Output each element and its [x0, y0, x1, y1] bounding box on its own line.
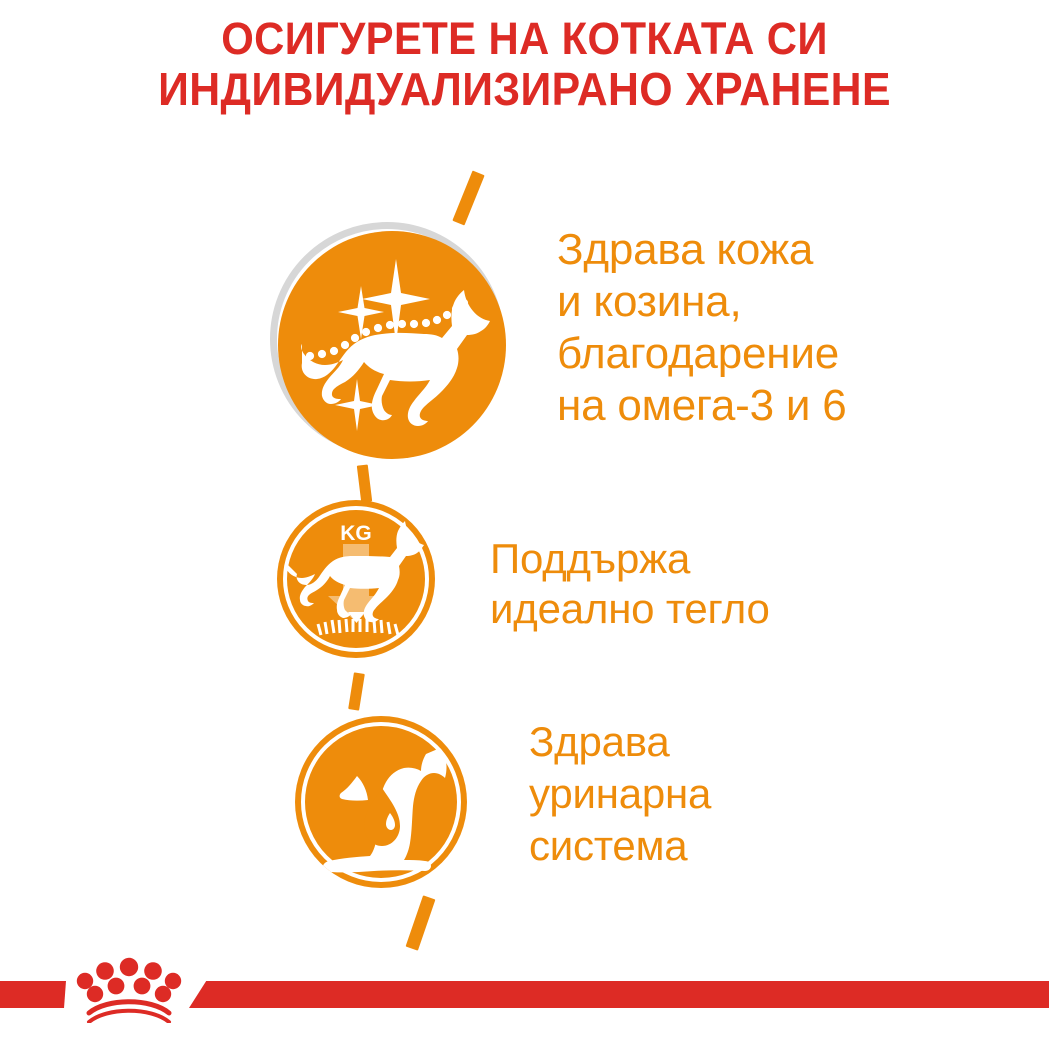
crown-arcs	[89, 1002, 169, 1022]
page-title: ОСИГУРЕТЕ НА КОТКАТА СИ ИНДИВИДУАЛИЗИРАН…	[37, 14, 1013, 114]
benefit-3-text: Здрава уринарна система	[529, 716, 711, 872]
crown-bottom-dots	[87, 978, 171, 1003]
kg-label: KG	[340, 522, 372, 545]
benefit-3-line-2: уринарна	[529, 768, 711, 820]
connector-dash-between-2-3	[348, 672, 365, 710]
benefit-1-line-1: Здрава кожа	[557, 224, 847, 276]
benefit-3-line-1: Здрава	[529, 716, 711, 768]
benefit-2-text: Поддържа идеално тегло	[490, 534, 770, 634]
benefit-1-line-2: и козина,	[557, 276, 847, 328]
page-title-line-2: ИНДИВИДУАЛИЗИРАНО ХРАНЕНЕ	[37, 64, 1013, 114]
footer-bar-left	[0, 981, 66, 1008]
gauge-ticks	[318, 619, 398, 635]
sparkle-large	[362, 259, 430, 343]
connector-dash-bottom	[406, 895, 436, 950]
benefit-3-line-3: система	[529, 820, 711, 872]
page-title-line-1: ОСИГУРЕТЕ НА КОТКАТА СИ	[37, 14, 1013, 64]
benefit-2-line-2: идеално тегло	[490, 584, 770, 634]
connector-dash-top	[452, 171, 484, 226]
cat-healthy-coat-icon	[278, 231, 506, 459]
cat-urinary-health-icon	[295, 716, 467, 888]
benefit-1-line-4: на омега-3 и 6	[557, 380, 847, 432]
benefit-2-line-1: Поддържа	[490, 534, 770, 584]
small-triangle-shape	[340, 776, 368, 801]
cat-ideal-weight-kg-icon: KG	[277, 500, 435, 658]
royal-canin-crown-logo	[74, 953, 184, 1023]
gauge-pointer-triangle	[348, 612, 365, 623]
crown-top-dots	[77, 958, 181, 989]
footer-bar-right	[189, 981, 1049, 1008]
benefit-1-text: Здрава кожа и козина, благодарение на ом…	[557, 224, 847, 432]
benefit-1-line-3: благодарение	[557, 328, 847, 380]
connector-dash-between-1-2	[357, 464, 372, 502]
